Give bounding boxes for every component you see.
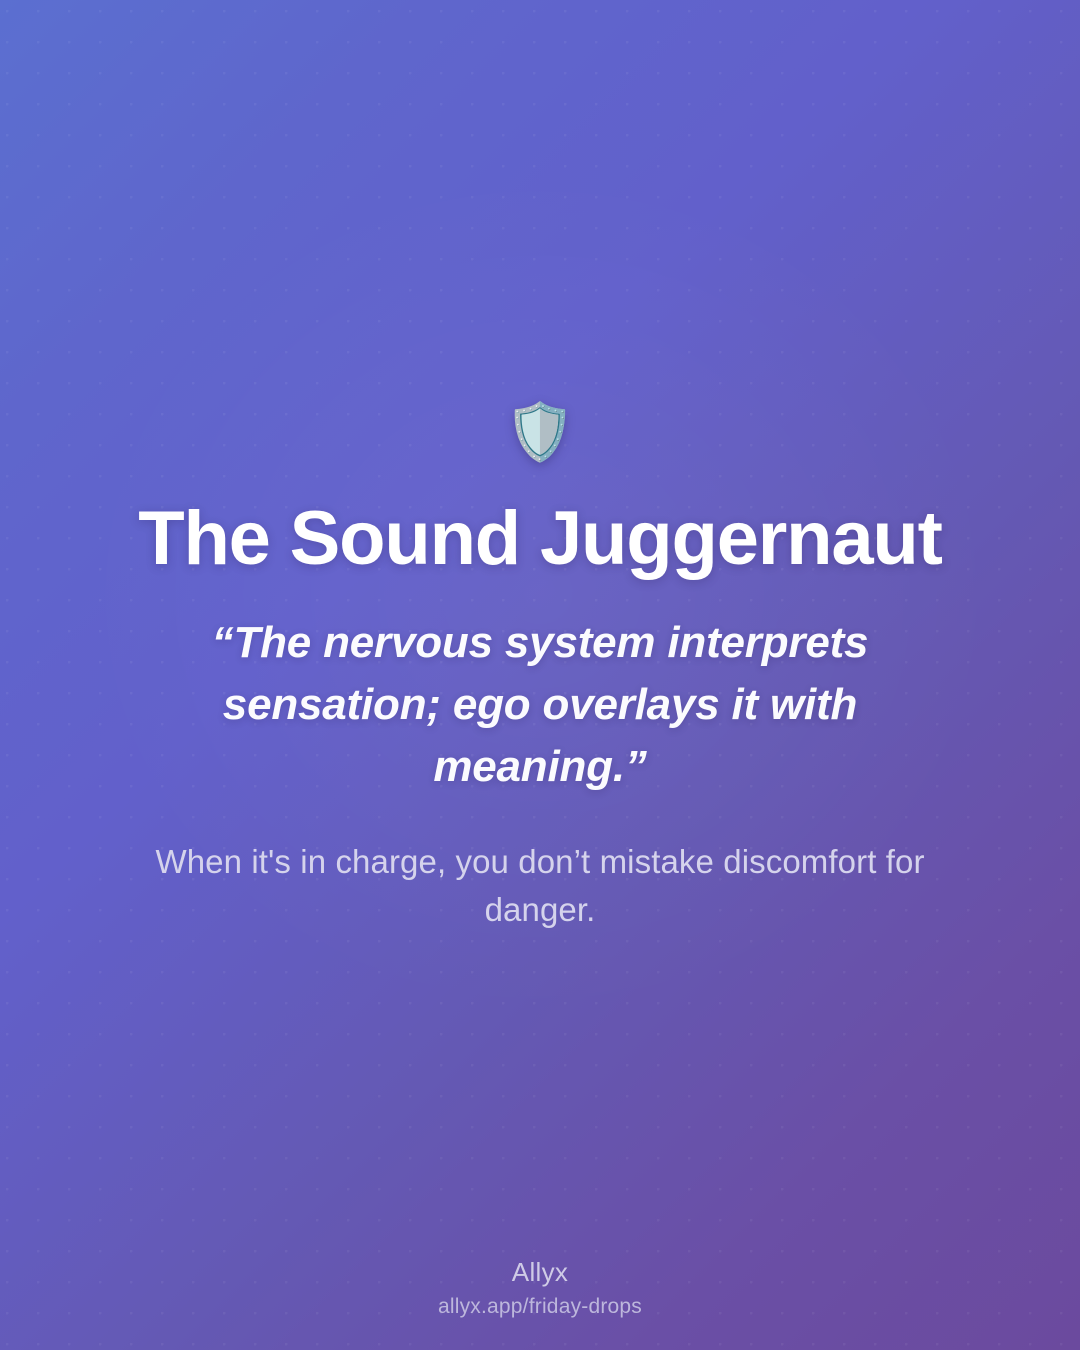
brand-url: allyx.app/friday-drops <box>438 1293 642 1320</box>
social-quote-card: 🛡️ The Sound Juggernaut “The nervous sys… <box>0 0 1080 1350</box>
card-footer: Allyx allyx.app/friday-drops <box>0 1256 1080 1320</box>
card-content: 🛡️ The Sound Juggernaut “The nervous sys… <box>0 404 1080 934</box>
brand-name: Allyx <box>512 1256 568 1288</box>
page-title: The Sound Juggernaut <box>138 500 942 578</box>
subtitle-text: When it's in charge, you don’t mistake d… <box>115 838 965 934</box>
quote-text: “The nervous system interprets sensation… <box>140 612 940 798</box>
shield-icon: 🛡️ <box>505 404 575 470</box>
